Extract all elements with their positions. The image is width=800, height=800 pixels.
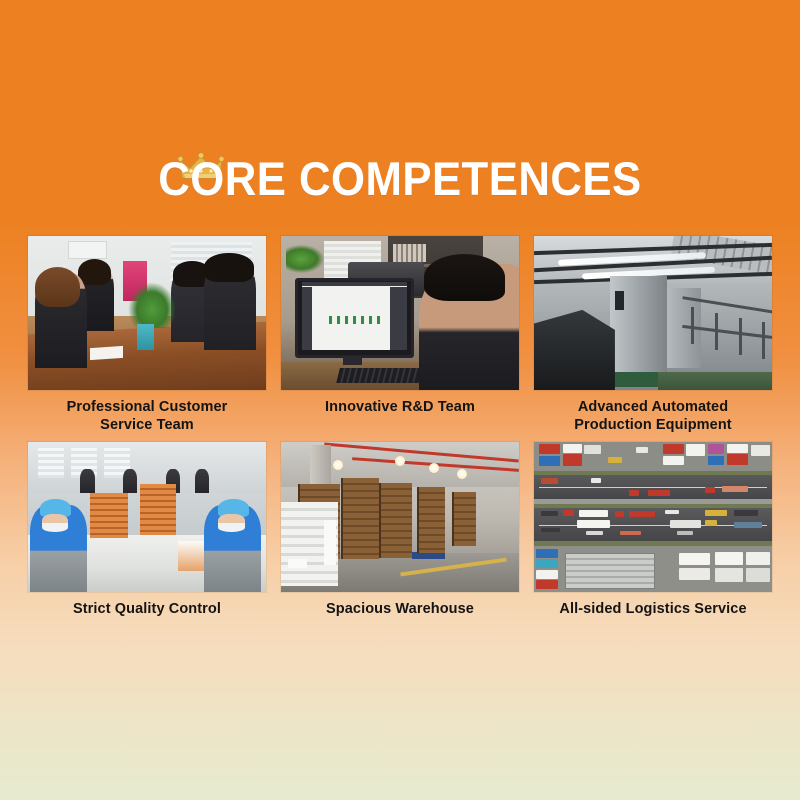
caption-line-1: Professional Customer xyxy=(28,398,266,416)
caption-line-1: Advanced Automated xyxy=(534,398,772,416)
caption-line-1: Spacious Warehouse xyxy=(281,600,519,618)
caption-spacious-warehouse: Spacious Warehouse xyxy=(281,600,519,618)
photo-all-sided-logistics-service xyxy=(534,442,772,592)
caption-strict-quality-control: Strict Quality Control xyxy=(28,600,266,618)
photo-professional-customer-service-team xyxy=(28,236,266,390)
caption-line-1: All-sided Logistics Service xyxy=(534,600,772,618)
caption-advanced-automated-production-equipment: Advanced Automated Production Equipment xyxy=(534,398,772,434)
card-innovative-rd-team[interactable]: Innovative R&D Team xyxy=(281,236,519,434)
photo-advanced-automated-production-equipment xyxy=(534,236,772,390)
page-header: CORE COMPETENCES xyxy=(0,150,800,208)
caption-all-sided-logistics-service: All-sided Logistics Service xyxy=(534,600,772,618)
caption-line-1: Innovative R&D Team xyxy=(281,398,519,416)
card-strict-quality-control[interactable]: Strict Quality Control xyxy=(28,442,266,618)
page-title: CORE COMPETENCES xyxy=(158,150,641,208)
card-all-sided-logistics-service[interactable]: All-sided Logistics Service xyxy=(534,442,772,618)
caption-line-2: Production Equipment xyxy=(534,416,772,434)
caption-professional-customer-service-team: Professional Customer Service Team xyxy=(28,398,266,434)
photo-innovative-rd-team xyxy=(281,236,519,390)
competences-grid: Professional Customer Service Team Innov… xyxy=(28,236,772,618)
card-advanced-automated-production-equipment[interactable]: Advanced Automated Production Equipment xyxy=(534,236,772,434)
photo-strict-quality-control xyxy=(28,442,266,592)
caption-innovative-rd-team: Innovative R&D Team xyxy=(281,398,519,416)
caption-line-1: Strict Quality Control xyxy=(28,600,266,618)
photo-spacious-warehouse xyxy=(281,442,519,592)
card-professional-customer-service-team[interactable]: Professional Customer Service Team xyxy=(28,236,266,434)
card-spacious-warehouse[interactable]: Spacious Warehouse xyxy=(281,442,519,618)
caption-line-2: Service Team xyxy=(28,416,266,434)
